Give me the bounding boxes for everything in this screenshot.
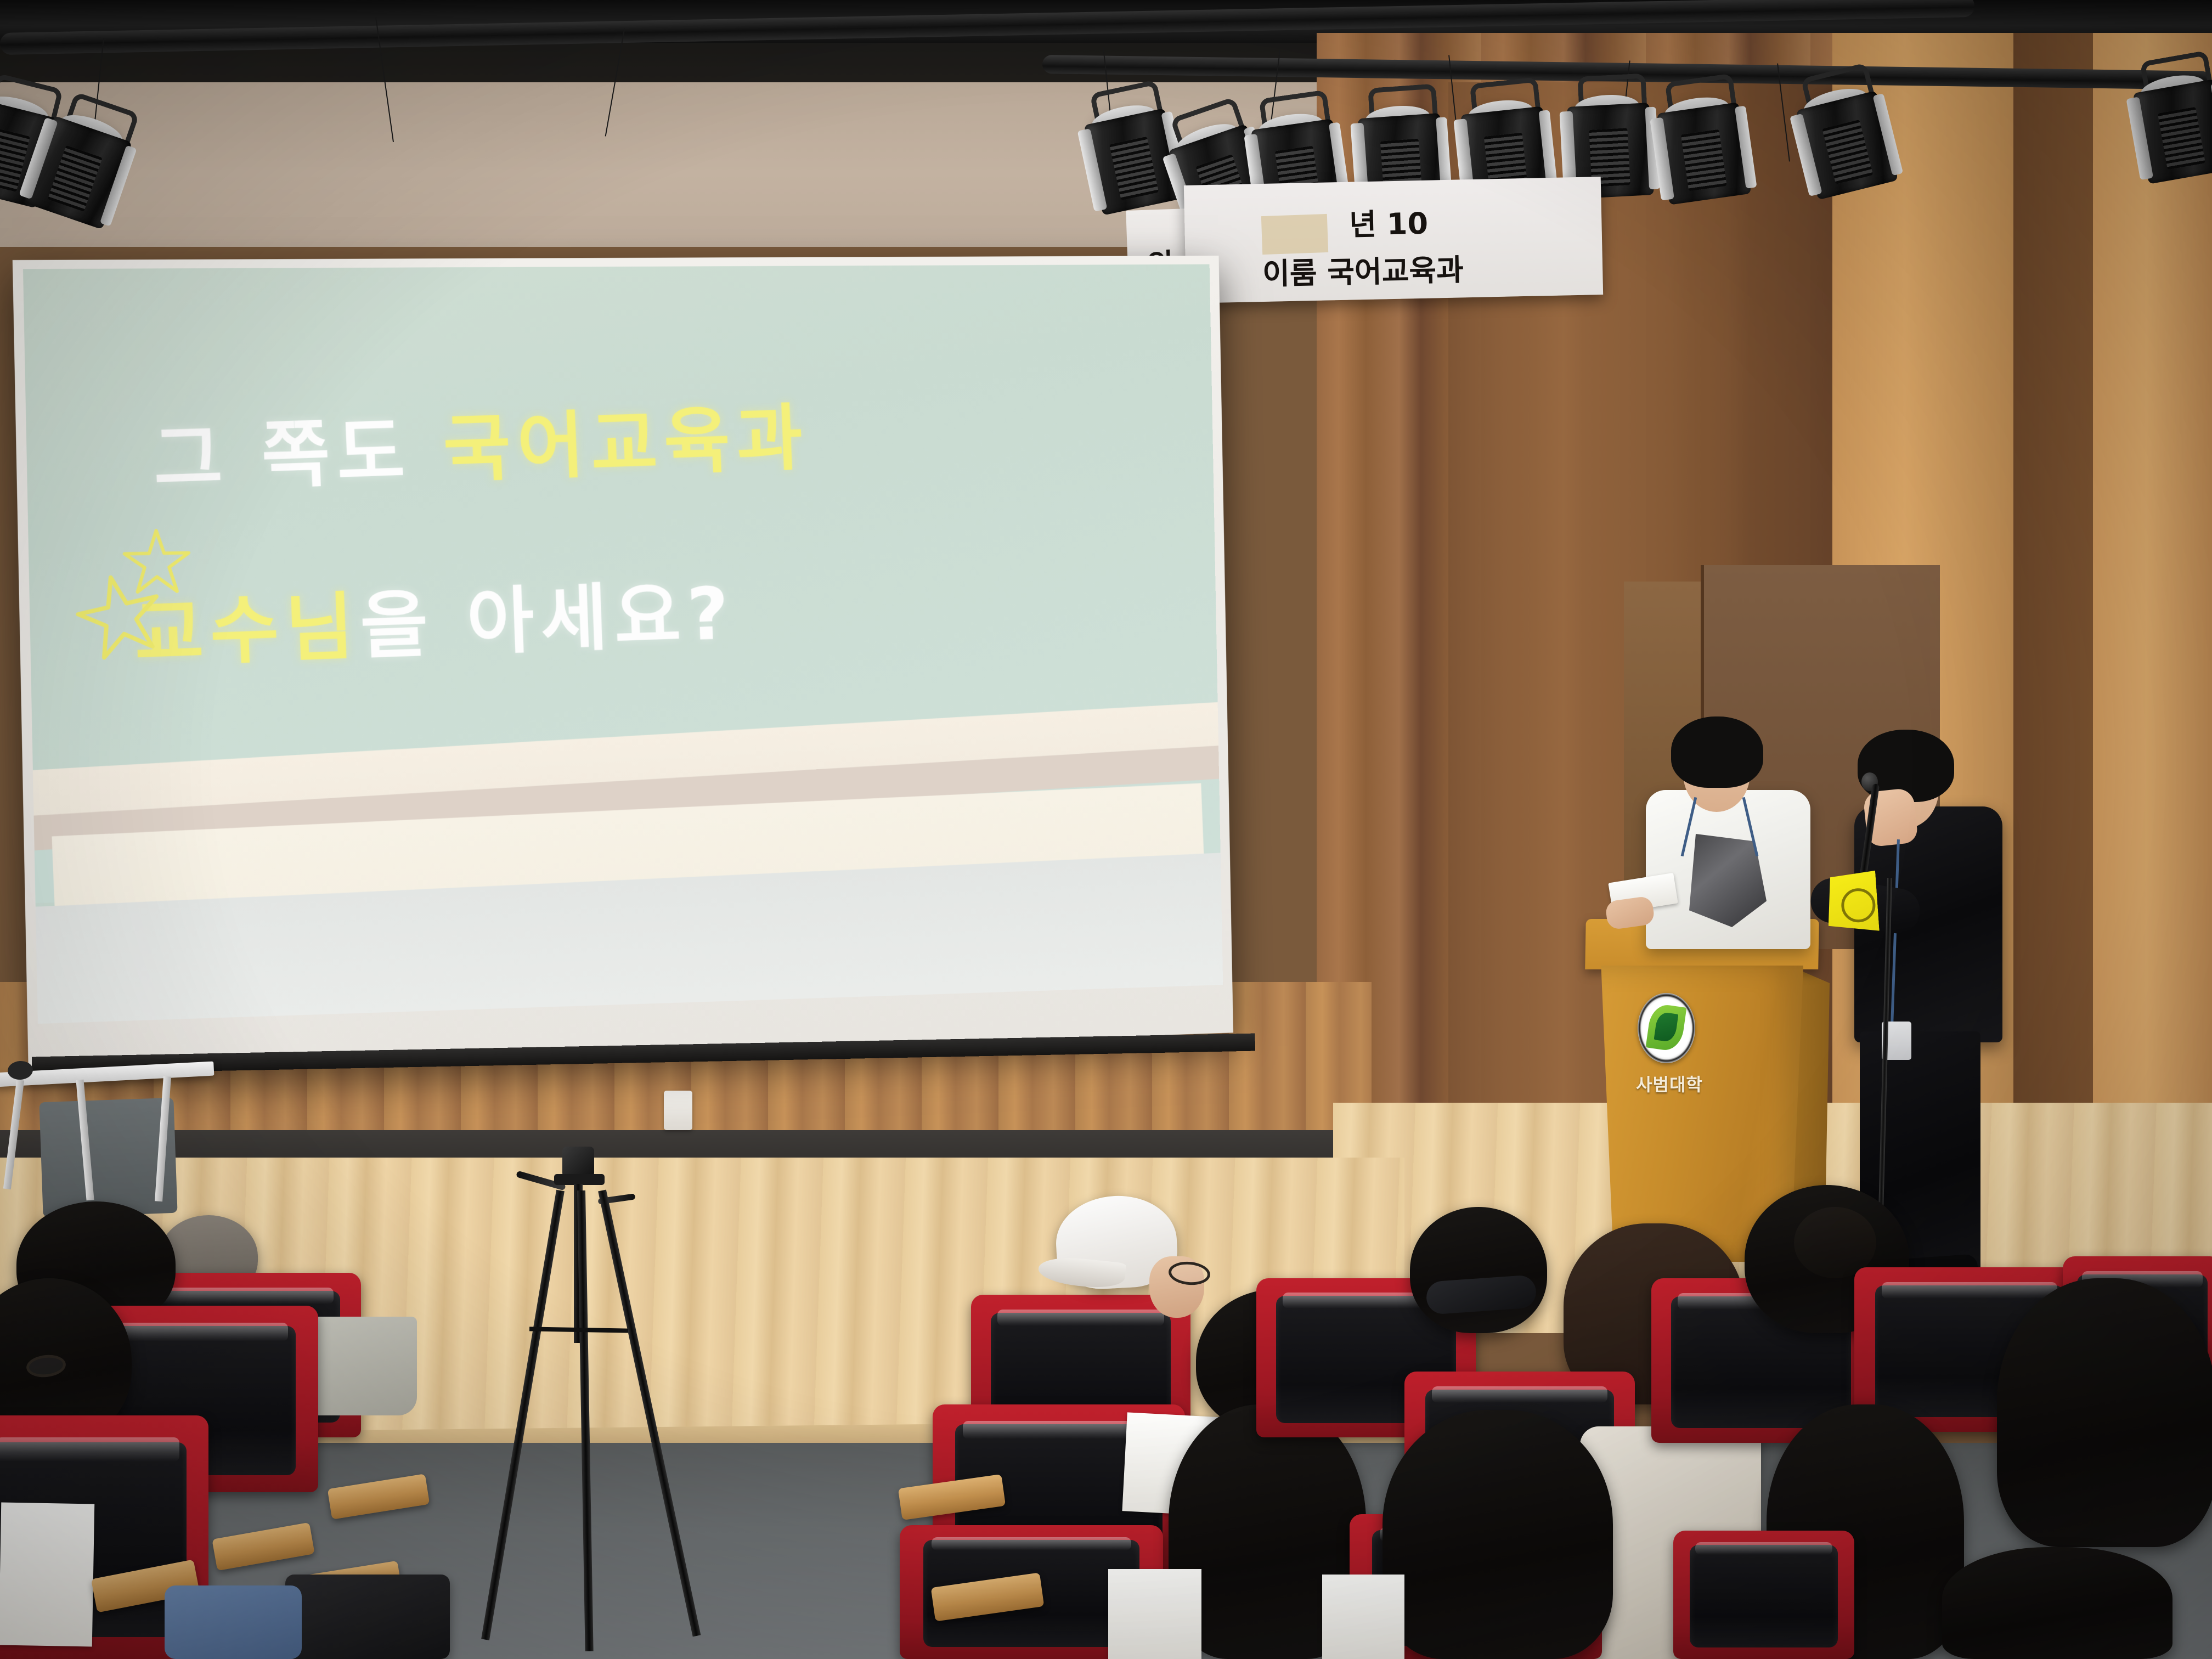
microphone-flag bbox=[1825, 871, 1879, 934]
college-emblem-icon bbox=[1638, 993, 1695, 1063]
podium-label: 사범대학 bbox=[1628, 1071, 1711, 1096]
stage-light-fixture bbox=[1794, 82, 1898, 201]
slide-text-block: 그 쪽도 국어교육과 교수님을 아세요? bbox=[23, 264, 1223, 1024]
slide-line2-white: 을 아세요? bbox=[359, 571, 737, 669]
slide-line1-yellow: 국어교육과 bbox=[442, 396, 811, 492]
audience-head bbox=[1383, 1410, 1613, 1659]
handout-paper bbox=[1322, 1575, 1404, 1659]
slide-line1-white: 그 쪽도 bbox=[151, 408, 445, 503]
mic-flag-logo-icon bbox=[1840, 887, 1876, 923]
presenter-hair bbox=[1671, 716, 1763, 788]
slide-line-1: 그 쪽도 국어교육과 bbox=[151, 380, 811, 507]
projection-screen: 그 쪽도 국어교육과 교수님을 아세요? bbox=[13, 256, 1233, 1075]
banner-tape bbox=[1261, 214, 1328, 255]
audience-head bbox=[1942, 1547, 2172, 1659]
handout-paper bbox=[1108, 1569, 1201, 1659]
audience-bag bbox=[285, 1575, 450, 1659]
banner-line-1: 년 10 bbox=[1348, 199, 1428, 244]
projected-slide: 그 쪽도 국어교육과 교수님을 아세요? bbox=[23, 264, 1223, 1024]
wall-panel-c bbox=[2013, 33, 2096, 1130]
tripod-plate bbox=[554, 1174, 605, 1185]
audience-head bbox=[1997, 1278, 2212, 1547]
slide-line-2: 교수님을 아세요? bbox=[132, 555, 737, 681]
tripod-head bbox=[562, 1147, 594, 1177]
audience-head bbox=[1410, 1207, 1547, 1333]
handout-paper bbox=[0, 1503, 94, 1647]
event-banner: 년 10 이룸 국어교육과 bbox=[1184, 177, 1603, 303]
auditorium-photo: 의 년 10 이룸 국어교육과 그 쪽도 국어교육과 교수님을 아세요? bbox=[0, 0, 2212, 1659]
stage-light-fixture bbox=[1656, 93, 1751, 205]
wall-outlet bbox=[664, 1091, 692, 1130]
audience-seat bbox=[1673, 1531, 1854, 1659]
stage-light-fixture bbox=[2131, 70, 2212, 184]
wall-panel-d bbox=[2093, 33, 2212, 1130]
audience-clothing bbox=[165, 1585, 302, 1659]
